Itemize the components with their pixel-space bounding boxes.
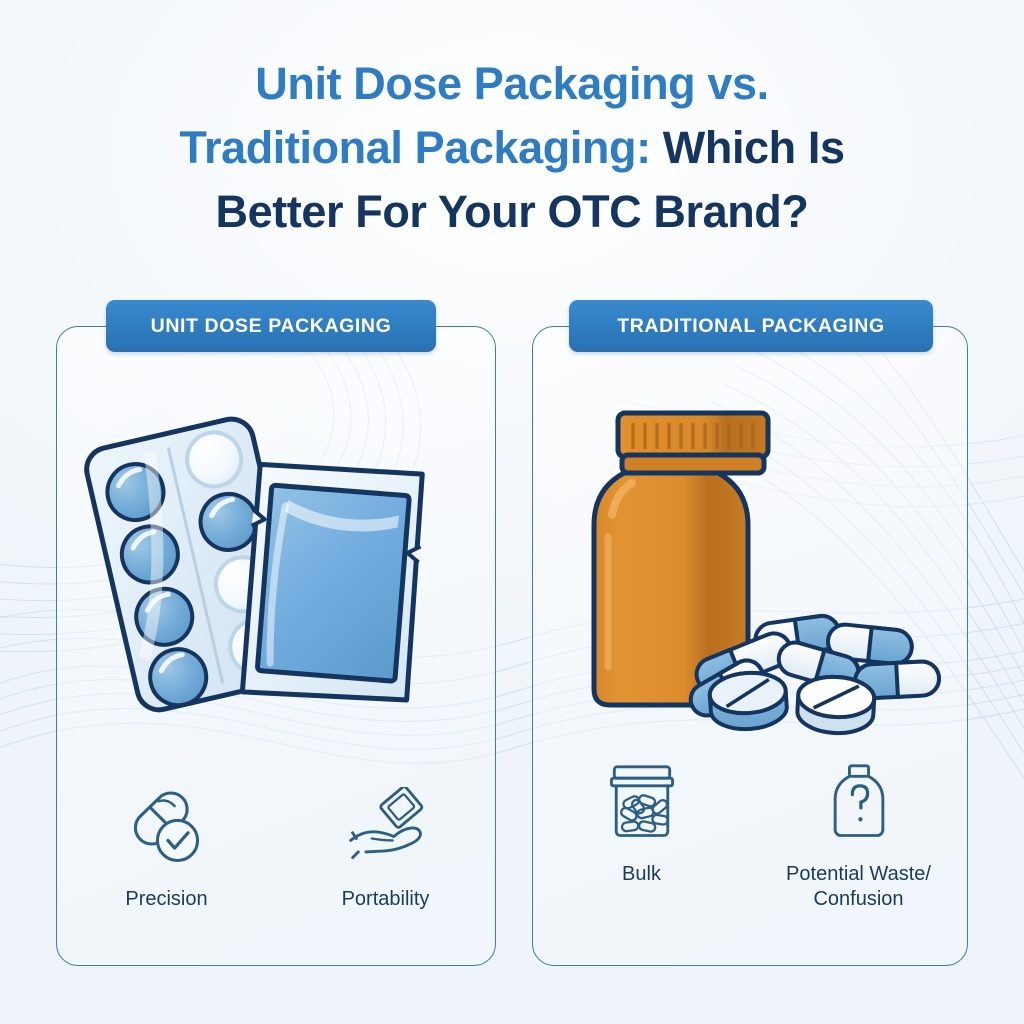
bottle-question-icon bbox=[816, 762, 902, 846]
unit-dose-feature-row: Precision Portability bbox=[57, 787, 495, 913]
page-title: Unit Dose Packaging vs. Traditional Pack… bbox=[62, 52, 962, 244]
panel-unit-dose: Precision Portability bbox=[56, 326, 496, 966]
feature-portability: Portability bbox=[285, 787, 486, 913]
title-text-navy-2: Better For Your OTC Brand? bbox=[216, 186, 809, 237]
feature-bulk: Bulk bbox=[542, 762, 742, 888]
pill-jar-icon bbox=[599, 762, 685, 846]
title-line-2: Traditional Packaging: Which Is bbox=[62, 116, 962, 180]
hand-sachet-icon bbox=[343, 787, 429, 871]
title-line-1: Unit Dose Packaging vs. bbox=[62, 52, 962, 116]
feature-label: Bulk bbox=[622, 862, 661, 888]
feature-label: Precision bbox=[125, 887, 207, 913]
feature-waste-confusion: Potential Waste/ Confusion bbox=[759, 762, 959, 913]
capsule-check-icon bbox=[124, 787, 210, 871]
sachet-packet-graphic bbox=[231, 454, 434, 712]
feature-label: Potential Waste/ Confusion bbox=[764, 862, 954, 913]
title-line-3: Better For Your OTC Brand? bbox=[62, 180, 962, 244]
title-text-blue-1: Unit Dose Packaging vs. bbox=[255, 58, 768, 109]
panel-traditional: Bulk Potential Waste/ Confusion bbox=[532, 326, 968, 966]
feature-precision: Precision bbox=[66, 787, 267, 913]
title-text-navy-1: Which Is bbox=[663, 122, 845, 173]
unit-dose-illustration bbox=[57, 387, 495, 747]
badge-unit-dose-packaging: UNIT DOSE PACKAGING bbox=[106, 300, 436, 352]
feature-label: Portability bbox=[342, 887, 430, 913]
traditional-feature-row: Bulk Potential Waste/ Confusion bbox=[533, 762, 967, 913]
infographic-poster: Unit Dose Packaging vs. Traditional Pack… bbox=[0, 0, 1024, 1024]
traditional-illustration bbox=[533, 387, 967, 747]
title-text-blue-2: Traditional Packaging: bbox=[179, 122, 650, 173]
badge-traditional-packaging: TRADITIONAL PACKAGING bbox=[569, 300, 933, 352]
